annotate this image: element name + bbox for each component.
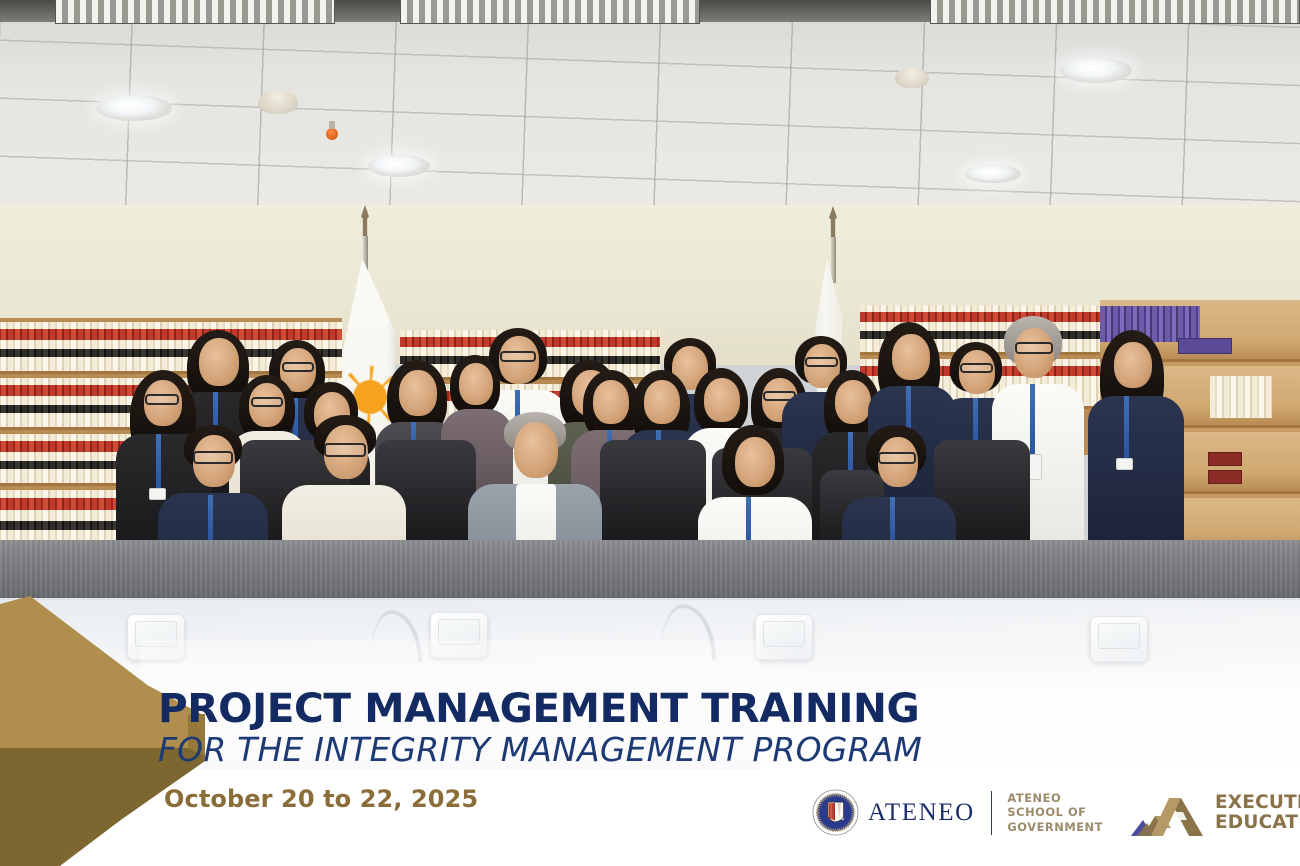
lanyard — [208, 495, 213, 543]
face — [593, 380, 629, 424]
logo-lockup: ATENEO ATENEO SCHOOL OF GOVERNMENT EXECU… — [812, 789, 1300, 836]
book-red-band — [860, 312, 1100, 322]
book-red-band — [0, 329, 342, 340]
face — [735, 437, 775, 487]
red-box — [1208, 470, 1242, 484]
recessed-downlight-4 — [965, 165, 1021, 183]
eyeglasses-icon — [251, 397, 283, 407]
executive-education-mountain-icon — [1129, 790, 1203, 836]
ceiling — [0, 0, 1300, 215]
eyeglasses-icon — [960, 363, 993, 373]
red-box — [1208, 452, 1242, 466]
eyeglasses-icon — [145, 394, 179, 405]
lanyard — [890, 497, 895, 545]
assorted-books — [1210, 376, 1272, 418]
exec-line-2: EDUCATION — [1215, 813, 1300, 833]
event-poster: PROJECT MANAGEMENT TRAINING FOR THE INTE… — [0, 0, 1300, 866]
eyeglasses-icon — [878, 452, 916, 464]
face — [514, 422, 558, 478]
ateneo-wordmark: ATENEO — [868, 799, 975, 827]
face — [644, 380, 680, 424]
face — [199, 338, 239, 386]
face — [704, 378, 740, 422]
ateneo-school-of-government-label: ATENEO SCHOOL OF GOVERNMENT — [1007, 791, 1103, 835]
id-badge — [149, 488, 166, 500]
eyeglasses-icon — [1015, 342, 1053, 354]
face — [892, 334, 930, 380]
logo-divider — [991, 791, 993, 835]
asog-line-1: ATENEO — [1007, 791, 1103, 806]
fire-sprinkler-icon — [326, 128, 338, 140]
ateneo-seal-icon — [812, 789, 859, 836]
recessed-downlight-2 — [368, 155, 430, 177]
torso — [1088, 396, 1184, 556]
face — [399, 370, 437, 416]
asog-line-2: SCHOOL OF — [1007, 805, 1103, 820]
recessed-downlight-1 — [96, 95, 172, 121]
eyeglasses-icon — [324, 443, 366, 457]
exec-line-1: EXECUTIVE — [1215, 793, 1300, 813]
eyeglasses-icon — [193, 451, 233, 464]
ceiling-light-panel-left — [55, 0, 335, 24]
eyeglasses-icon — [805, 357, 838, 367]
ceiling-light-panel-right — [400, 0, 700, 24]
lanyard — [156, 434, 161, 492]
lanyard — [1124, 396, 1129, 458]
executive-education-label: EXECUTIVE EDUCATION — [1215, 793, 1300, 832]
event-date: October 20 to 22, 2025 — [164, 785, 478, 813]
ceiling-tile-grid — [0, 0, 1300, 215]
lanyard — [1030, 384, 1035, 454]
face — [459, 363, 493, 405]
smoke-detector-icon-2 — [895, 68, 929, 88]
conference-chair — [600, 440, 706, 545]
face — [1114, 342, 1152, 388]
asog-line-3: GOVERNMENT — [1007, 820, 1103, 835]
eyeglasses-icon — [500, 351, 536, 362]
face — [835, 380, 871, 424]
title-block: PROJECT MANAGEMENT TRAINING FOR THE INTE… — [158, 688, 922, 767]
ceiling-light-panel-far-right — [930, 0, 1300, 24]
id-badge — [1116, 458, 1133, 470]
page-subtitle: FOR THE INTEGRITY MANAGEMENT PROGRAM — [158, 733, 922, 768]
eyeglasses-icon — [282, 362, 314, 372]
flag-pole-right — [831, 237, 836, 283]
lanyard — [746, 497, 751, 545]
recessed-downlight-3 — [1060, 58, 1132, 83]
purple-slipcase — [1178, 338, 1232, 354]
smoke-detector-icon — [258, 90, 298, 114]
page-title: PROJECT MANAGEMENT TRAINING — [158, 688, 922, 729]
